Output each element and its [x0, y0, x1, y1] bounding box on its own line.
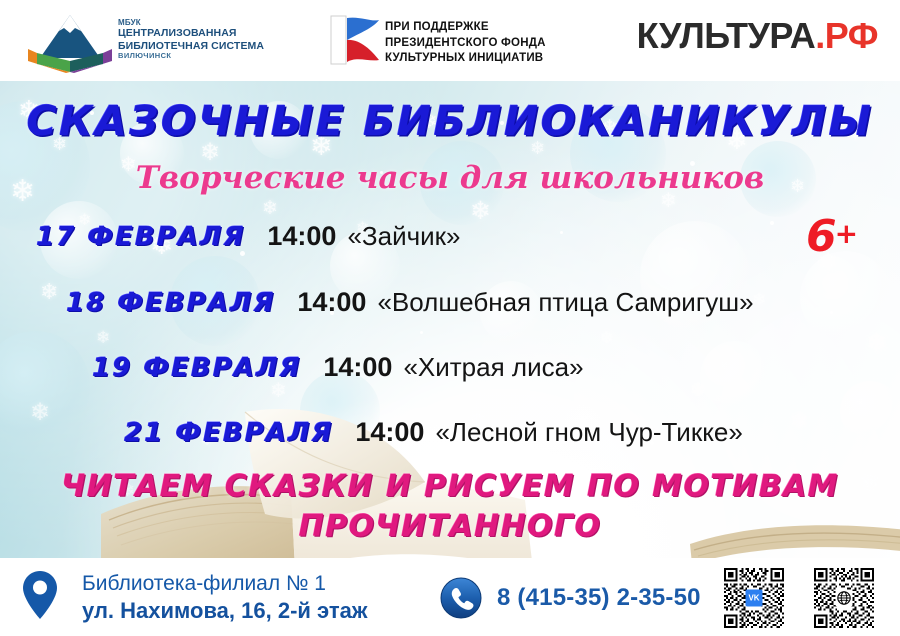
fund-support-text: ПРИ ПОДДЕРЖКЕ ПРЕЗИДЕНТСКОГО ФОНДА КУЛЬТ… — [385, 20, 546, 67]
event-date: 19 февраля — [92, 353, 301, 383]
age-rating-number: 6 — [806, 211, 835, 262]
address-block: Библиотека-филиал № 1 ул. Нахимова, 16, … — [82, 570, 368, 626]
event-date: 18 февраля — [66, 288, 275, 318]
event-date: 17 февраля — [36, 222, 245, 252]
closing-line-2: ПРОЧИТАННОГО — [0, 507, 900, 547]
kultura-domain: .РФ — [815, 15, 878, 56]
schedule-row: 21 февраля 14:00 «Лесной гном Чур-Тикке» — [124, 417, 743, 448]
qr-code-website[interactable] — [812, 566, 876, 630]
fund-line-1: ПРИ ПОДДЕРЖКЕ — [385, 20, 546, 36]
event-time: 14:00 — [267, 221, 336, 252]
fund-line-2: ПРЕЗИДЕНТСКОГО ФОНДА — [385, 36, 546, 52]
event-name: «Волшебная птица Самригуш» — [377, 287, 753, 318]
event-name: «Лесной гном Чур-Тикке» — [435, 417, 742, 448]
age-rating-plus: + — [835, 217, 856, 250]
map-pin-icon — [22, 570, 58, 620]
poster-content: СКАЗОЧНЫЕ БИБЛИОКАНИКУЛЫ Творческие часы… — [0, 81, 900, 558]
closing-line-1: ЧИТАЕМ СКАЗКИ И РИСУЕМ ПО МОТИВАМ — [0, 467, 900, 507]
event-time: 14:00 — [355, 417, 424, 448]
library-name-line1: ЦЕНТРАЛИЗОВАННАЯ — [118, 27, 264, 39]
footer-band: Библиотека-филиал № 1 ул. Нахимова, 16, … — [0, 558, 900, 636]
fund-line-3: КУЛЬТУРНЫХ ИНИЦИАТИВ — [385, 51, 546, 67]
event-time: 14:00 — [297, 287, 366, 318]
phone-number: 8 (415-35) 2-35-50 — [497, 584, 701, 612]
qr-code-vk[interactable]: VK — [722, 566, 786, 630]
event-time: 14:00 — [323, 352, 392, 383]
globe-icon — [836, 590, 853, 607]
library-logo-text: МБУК ЦЕНТРАЛИЗОВАННАЯ БИБЛИОТЕЧНАЯ СИСТЕ… — [118, 18, 264, 61]
event-date: 21 февраля — [124, 418, 333, 448]
mountain-book-logo-icon — [24, 9, 116, 73]
kultura-rf-logo: КУЛЬТУРА.РФ — [637, 18, 878, 54]
schedule-row: 19 февраля 14:00 «Хитрая лиса» — [92, 352, 584, 383]
schedule-row: 18 февраля 14:00 «Волшебная птица Самриг… — [66, 287, 754, 318]
vk-icon: VK — [746, 590, 763, 607]
presidential-fund-k-logo-icon — [327, 12, 387, 68]
schedule-row: 17 февраля 14:00 «Зайчик» — [36, 221, 461, 252]
event-name: «Зайчик» — [347, 221, 460, 252]
venue-name: Библиотека-филиал № 1 — [82, 570, 368, 597]
page-subtitle: Творческие часы для школьников — [0, 160, 900, 196]
kultura-word: КУЛЬТУРА — [637, 15, 816, 56]
age-rating-badge: 6+ — [806, 215, 856, 259]
closing-message: ЧИТАЕМ СКАЗКИ И РИСУЕМ ПО МОТИВАМ ПРОЧИТ… — [0, 467, 900, 546]
page-title: СКАЗОЧНЫЕ БИБЛИОКАНИКУЛЫ — [0, 97, 900, 145]
library-abbrev: МБУК — [118, 18, 264, 27]
library-city: ВИЛЮЧИНСК — [118, 52, 264, 61]
event-name: «Хитрая лиса» — [403, 352, 583, 383]
phone-icon — [440, 577, 482, 619]
header-band: МБУК ЦЕНТРАЛИЗОВАННАЯ БИБЛИОТЕЧНАЯ СИСТЕ… — [0, 0, 900, 81]
poster: МБУК ЦЕНТРАЛИЗОВАННАЯ БИБЛИОТЕЧНАЯ СИСТЕ… — [0, 0, 900, 636]
street-address: ул. Нахимова, 16, 2-й этаж — [82, 597, 368, 626]
